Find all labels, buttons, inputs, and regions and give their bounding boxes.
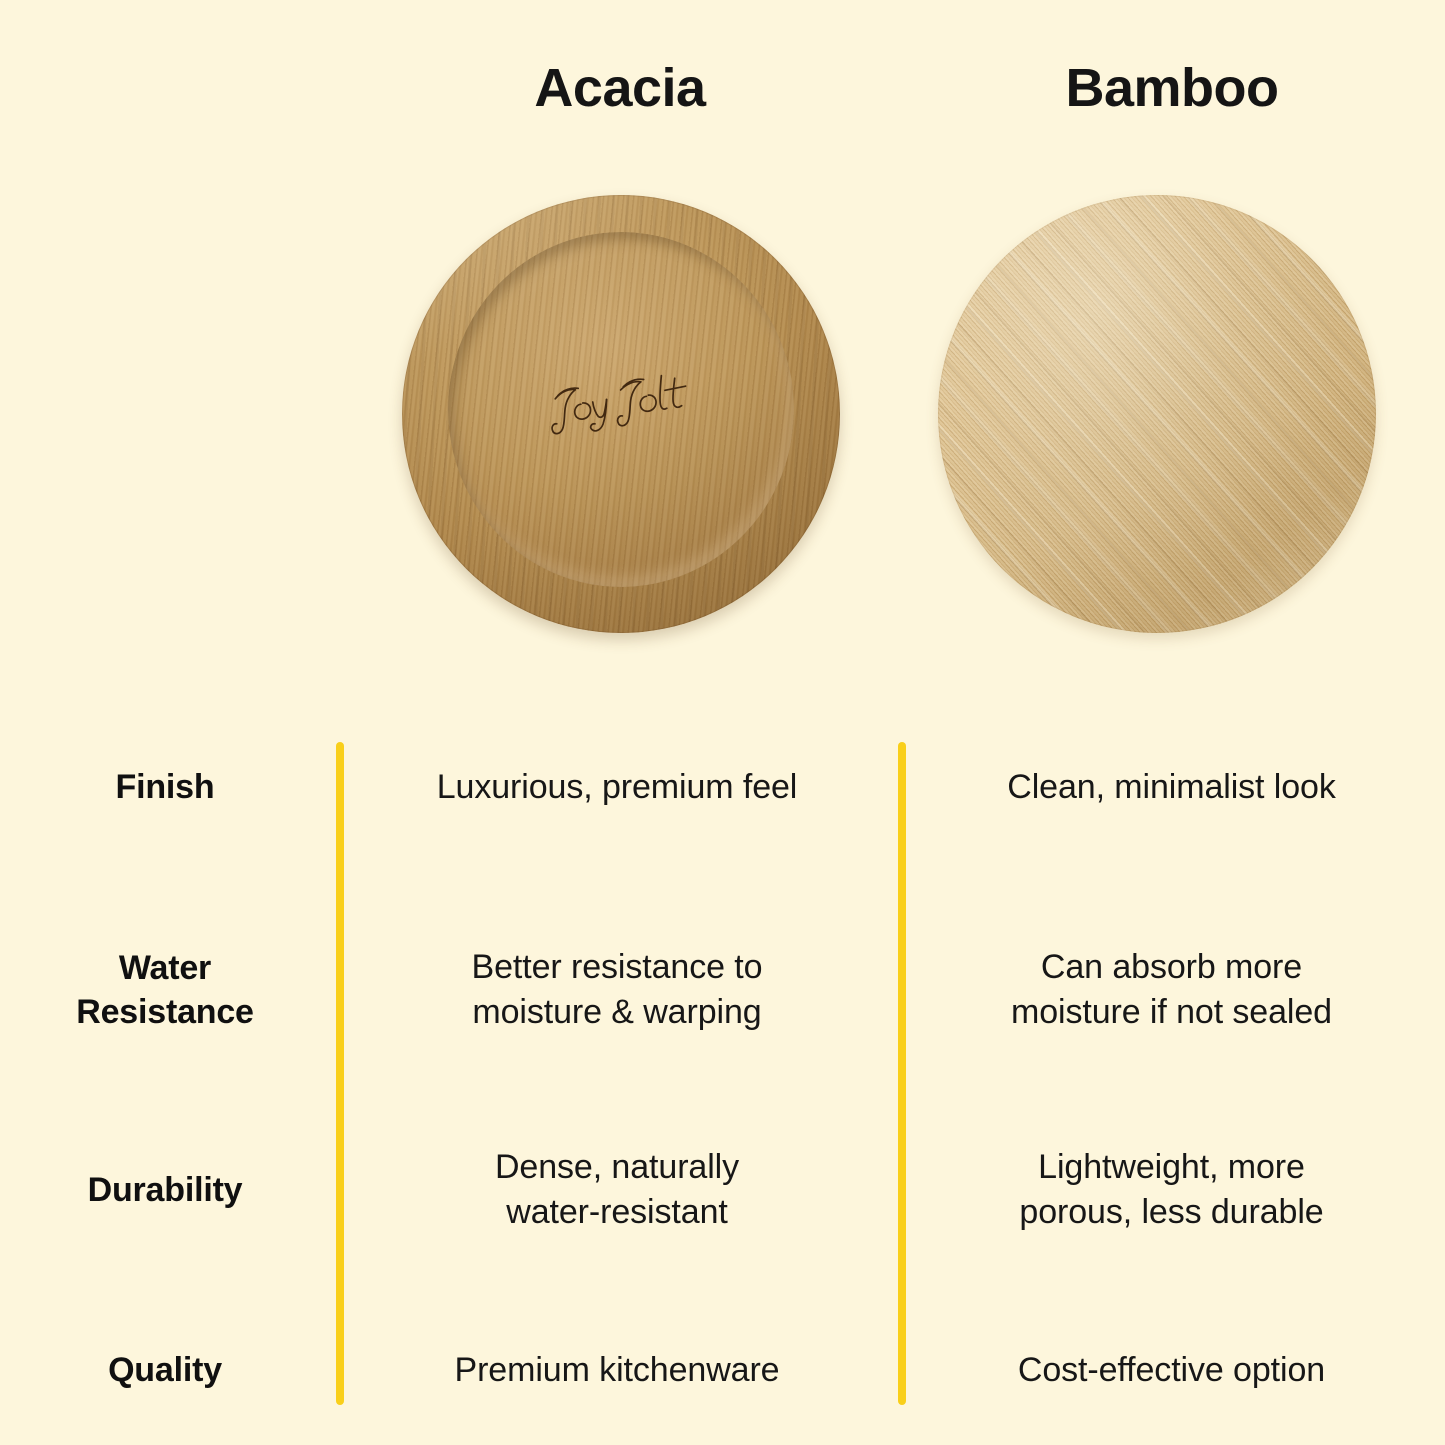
row-label-durability: Durability bbox=[0, 1122, 336, 1257]
row-label-line: Finish bbox=[0, 765, 330, 809]
row-value-bamboo: Clean, minimalist look bbox=[898, 732, 1445, 842]
row-value-line: Better resistance to bbox=[354, 945, 880, 990]
product-images bbox=[0, 195, 1445, 665]
row-value-bamboo: Cost-effective option bbox=[898, 1315, 1445, 1425]
row-label-line: Durability bbox=[0, 1168, 330, 1212]
row-value-line: Clean, minimalist look bbox=[916, 765, 1427, 810]
row-label-water-resistance: Water Resistance bbox=[0, 922, 336, 1057]
row-value-line: moisture if not sealed bbox=[916, 990, 1427, 1035]
table-row: Water Resistance Better resistance to mo… bbox=[0, 922, 1445, 1057]
comparison-infographic: Acacia Bamboo bbox=[0, 0, 1445, 1445]
row-label-line: Water bbox=[0, 946, 330, 990]
table-row: Durability Dense, naturally water-resist… bbox=[0, 1122, 1445, 1257]
row-value-bamboo: Can absorb more moisture if not sealed bbox=[898, 922, 1445, 1057]
row-value-line: Premium kitchenware bbox=[354, 1348, 880, 1393]
acacia-plate-container bbox=[402, 195, 840, 633]
row-label-line: Quality bbox=[0, 1348, 330, 1392]
bamboo-plate-container bbox=[938, 195, 1376, 633]
row-value-line: Cost-effective option bbox=[916, 1348, 1427, 1393]
row-value-line: Can absorb more bbox=[916, 945, 1427, 990]
row-value-bamboo: Lightweight, more porous, less durable bbox=[898, 1122, 1445, 1257]
row-value-acacia: Premium kitchenware bbox=[336, 1315, 898, 1425]
row-value-acacia: Luxurious, premium feel bbox=[336, 732, 898, 842]
table-row: Finish Luxurious, premium feel Clean, mi… bbox=[0, 732, 1445, 842]
row-label-line: Resistance bbox=[0, 990, 330, 1034]
row-value-line: Lightweight, more bbox=[916, 1145, 1427, 1190]
row-value-line: water-resistant bbox=[354, 1190, 880, 1235]
row-value-acacia: Dense, naturally water-resistant bbox=[336, 1122, 898, 1257]
column-header-bamboo: Bamboo bbox=[962, 55, 1382, 121]
row-value-line: Dense, naturally bbox=[354, 1145, 880, 1190]
table-row: Quality Premium kitchenware Cost-effecti… bbox=[0, 1315, 1445, 1425]
column-header-acacia: Acacia bbox=[410, 55, 830, 121]
row-label-finish: Finish bbox=[0, 732, 336, 842]
row-value-line: porous, less durable bbox=[916, 1190, 1427, 1235]
bamboo-wood-plate bbox=[938, 195, 1376, 633]
row-value-acacia: Better resistance to moisture & warping bbox=[336, 922, 898, 1057]
comparison-table: Finish Luxurious, premium feel Clean, mi… bbox=[0, 700, 1445, 1445]
acacia-wood-plate bbox=[402, 195, 840, 633]
row-value-line: Luxurious, premium feel bbox=[354, 765, 880, 810]
column-headers: Acacia Bamboo bbox=[0, 55, 1445, 135]
row-value-line: moisture & warping bbox=[354, 990, 880, 1035]
row-label-quality: Quality bbox=[0, 1315, 336, 1425]
bamboo-plate-sheen bbox=[938, 195, 1376, 633]
